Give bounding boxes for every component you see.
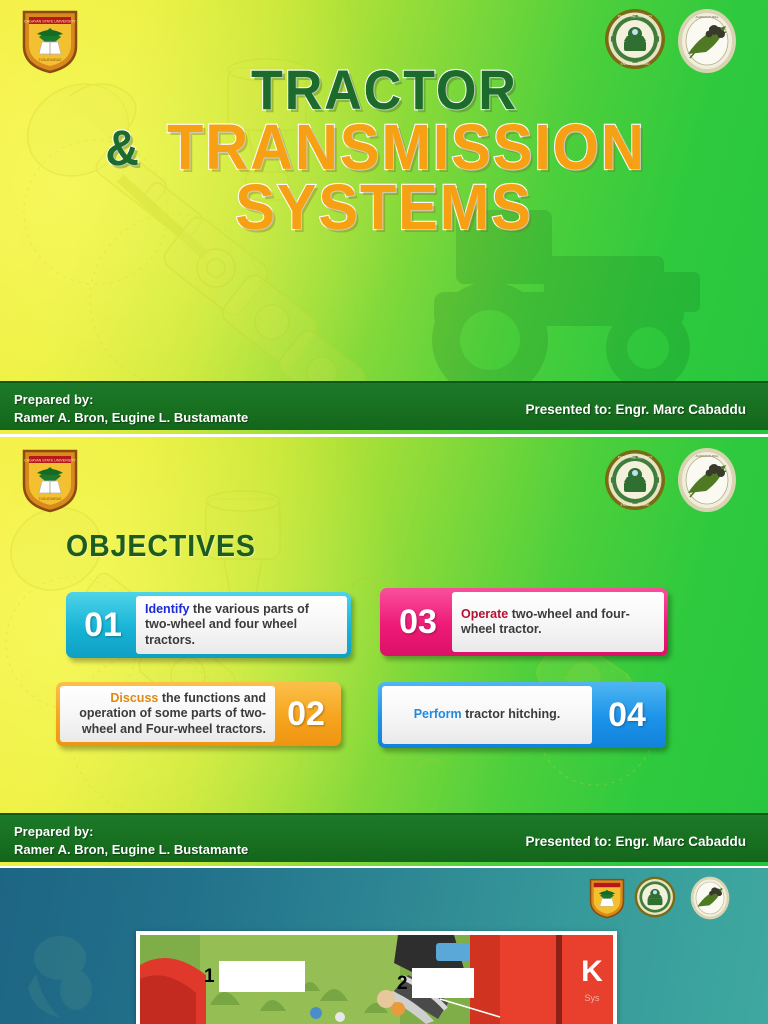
prepared-by-names: Ramer A. Bron, Eugine L. Bustamante	[14, 409, 248, 427]
photo-label-2-number: 2	[397, 974, 408, 993]
title-word-systems: SYSTEMS	[235, 177, 532, 237]
objective-keyword-02: Discuss	[110, 691, 158, 705]
title-line-3: SYSTEMS	[0, 177, 768, 237]
agricultural-machinery-seal-logo: AGRICULTURAL	[676, 447, 738, 513]
objective-keyword-01: Identify	[145, 602, 189, 616]
slide-tractor-parts-activity: K Sys	[0, 868, 768, 1024]
svg-text:Sys: Sys	[584, 993, 600, 1003]
slide-objectives: CAGAYAN STATE UNIVERSITY TUGUEGARAO	[0, 437, 768, 866]
prepared-by-block: Prepared by: Ramer A. Bron, Eugine L. Bu…	[14, 391, 248, 426]
cagayan-state-university-seal-logo	[588, 876, 626, 920]
objective-text-03: Operate two-wheel and four-wheel tractor…	[452, 592, 664, 652]
presentation-deck: CAGAYAN STATE UNIVERSITY TUGUEGARAO	[0, 0, 768, 1024]
objective-card-03[interactable]: 03 Operate two-wheel and four-wheel trac…	[380, 588, 668, 656]
psabe-engineering-society-seal-logo	[634, 876, 676, 918]
agricultural-machinery-seal-logo	[688, 876, 732, 920]
tractor-parts-photo-frame: K Sys	[136, 931, 617, 1024]
objective-number-03: 03	[384, 592, 452, 652]
cagayan-state-university-seal-logo: CAGAYAN STATE UNIVERSITY TUGUEGARAO	[20, 447, 80, 513]
title-word-transmission: TRANSMISSION	[167, 117, 646, 177]
objective-number-01: 01	[70, 596, 136, 654]
svg-text:TUGUEGARAO: TUGUEGARAO	[39, 58, 62, 62]
objective-card-01[interactable]: 01 Identify the various parts of two-whe…	[66, 592, 351, 658]
tractor-parts-photo: K Sys	[140, 935, 613, 1024]
svg-text:AGRICULTURAL: AGRICULTURAL	[696, 15, 719, 19]
svg-text:CAGAYAN STATE UNIVERSITY: CAGAYAN STATE UNIVERSITY	[24, 459, 76, 463]
objective-card-04[interactable]: 04 Perform tractor hitching.	[378, 682, 666, 748]
psabe-engineering-society-seal-logo: PHILIPPINE SOCIETY ENGINEERS · 1950	[604, 8, 666, 70]
svg-text:PHILIPPINE SOCIETY: PHILIPPINE SOCIETY	[618, 456, 653, 460]
presented-to-text: Presented to: Engr. Marc Cabaddu	[525, 402, 746, 417]
slide1-title-block: TRACTOR &TRANSMISSION SYSTEMS	[0, 64, 768, 237]
objective-keyword-04: Perform	[414, 707, 462, 721]
svg-text:TUGUEGARAO: TUGUEGARAO	[39, 497, 62, 501]
objective-number-02: 02	[275, 686, 337, 742]
title-ampersand: &	[105, 125, 140, 172]
photo-label-2-blank[interactable]	[412, 968, 474, 998]
title-word-tractor: TRACTOR	[251, 64, 518, 117]
objectives-heading: OBJECTIVES	[66, 528, 256, 564]
prepared-by-block: Prepared by: Ramer A. Bron, Eugine L. Bu…	[14, 823, 248, 858]
svg-text:K: K	[581, 955, 603, 988]
photo-label-2[interactable]: 2	[397, 968, 474, 998]
prepared-by-label: Prepared by:	[14, 391, 248, 409]
objective-card-02[interactable]: 02 Discuss the functions and operation o…	[56, 682, 341, 746]
slide-title: CAGAYAN STATE UNIVERSITY TUGUEGARAO	[0, 0, 768, 434]
slide1-footer-bar: Prepared by: Ramer A. Bron, Eugine L. Bu…	[0, 381, 768, 430]
svg-text:PHILIPPINE SOCIETY: PHILIPPINE SOCIETY	[618, 15, 653, 19]
prepared-by-label: Prepared by:	[14, 823, 248, 841]
svg-text:ENGINEERS · 1950: ENGINEERS · 1950	[621, 503, 650, 507]
objective-body-02: the functions and operation of some part…	[79, 691, 266, 736]
objective-body-04: tractor hitching.	[462, 707, 561, 721]
title-line-1: TRACTOR	[0, 64, 768, 117]
title-line-2: &TRANSMISSION	[0, 117, 768, 177]
objective-text-02: Discuss the functions and operation of s…	[60, 686, 275, 742]
presented-to-text: Presented to: Engr. Marc Cabaddu	[525, 834, 746, 849]
photo-label-1[interactable]: 1	[204, 961, 305, 992]
photo-label-1-blank[interactable]	[219, 961, 305, 992]
objective-text-01: Identify the various parts of two-wheel …	[136, 596, 347, 654]
ghost-machine-watermark	[16, 934, 108, 1024]
objective-number-04: 04	[592, 686, 662, 744]
svg-text:CAGAYAN STATE UNIVERSITY: CAGAYAN STATE UNIVERSITY	[24, 20, 76, 24]
photo-label-1-number: 1	[204, 967, 215, 986]
objective-text-04: Perform tractor hitching.	[382, 686, 592, 744]
svg-text:AGRICULTURAL: AGRICULTURAL	[696, 454, 719, 458]
slide2-footer-bar: Prepared by: Ramer A. Bron, Eugine L. Bu…	[0, 813, 768, 862]
objective-keyword-03: Operate	[461, 607, 508, 621]
psabe-engineering-society-seal-logo: PHILIPPINE SOCIETY ENGINEERS · 1950	[604, 449, 666, 511]
prepared-by-names: Ramer A. Bron, Eugine L. Bustamante	[14, 841, 248, 859]
